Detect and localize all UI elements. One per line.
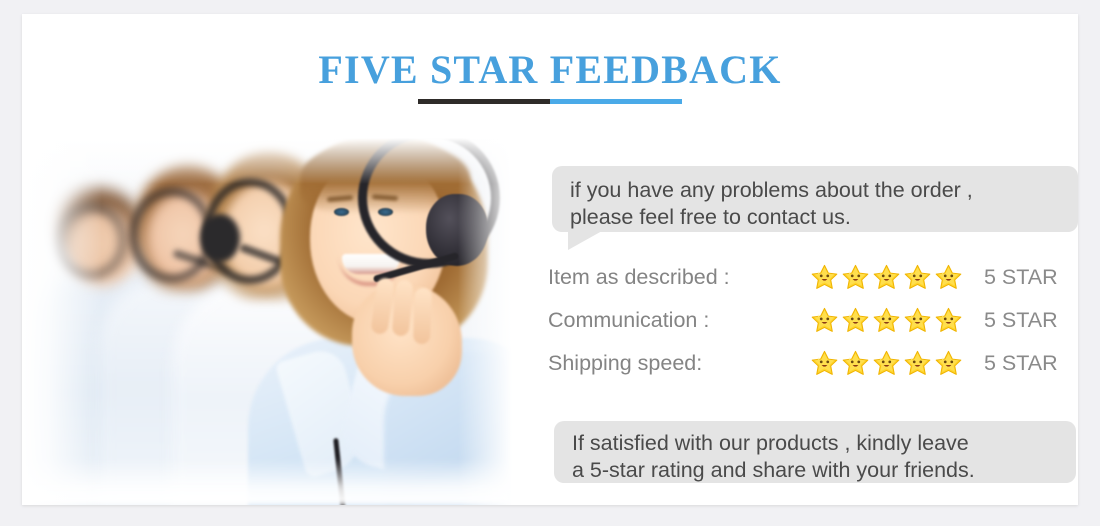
contact-message-line-2: please feel free to contact us. bbox=[570, 204, 1062, 231]
contact-message-line-1: if you have any problems about the order… bbox=[570, 177, 1062, 204]
star-icon bbox=[903, 306, 932, 335]
ratings-list: Item as described : 5 STAR Communication… bbox=[548, 256, 1078, 385]
content-card: FIVE STAR FEEDBACK bbox=[22, 14, 1078, 505]
star-icon bbox=[934, 306, 963, 335]
star-icon bbox=[903, 263, 932, 292]
title-divider bbox=[418, 99, 682, 104]
star-icon bbox=[810, 306, 839, 335]
divider-right-segment bbox=[550, 99, 682, 104]
star-icon bbox=[872, 263, 901, 292]
satisfaction-message-line-2: a 5-star rating and share with your frie… bbox=[572, 457, 1060, 484]
star-icon bbox=[934, 349, 963, 378]
star-icon bbox=[841, 349, 870, 378]
rating-label: Item as described : bbox=[548, 265, 810, 290]
satisfaction-message-bubble: If satisfied with our products , kindly … bbox=[554, 421, 1076, 483]
divider-left-segment bbox=[418, 99, 550, 104]
foreground-person-eye-left bbox=[334, 208, 349, 216]
star-icon bbox=[810, 263, 839, 292]
star-icon bbox=[903, 349, 932, 378]
star-icon bbox=[872, 306, 901, 335]
rating-label: Communication : bbox=[548, 308, 810, 333]
feedback-content: if you have any problems about the order… bbox=[530, 138, 1078, 505]
speech-bubble-tail-icon bbox=[568, 231, 602, 250]
rating-value: 5 STAR bbox=[972, 265, 1058, 290]
star-icon bbox=[934, 263, 963, 292]
rating-value: 5 STAR bbox=[972, 351, 1058, 376]
rating-row-communication: Communication : 5 STAR bbox=[548, 299, 1078, 342]
photo-fade-right bbox=[458, 138, 512, 505]
background-person-3-earcup bbox=[200, 214, 240, 262]
rating-stars bbox=[810, 349, 972, 378]
foreground-person-finger-3 bbox=[413, 288, 432, 345]
satisfaction-message-line-1: If satisfied with our products , kindly … bbox=[572, 430, 1060, 457]
rating-label: Shipping speed: bbox=[548, 351, 810, 376]
rating-stars bbox=[810, 306, 972, 335]
rating-value: 5 STAR bbox=[972, 308, 1058, 333]
feedback-banner: FIVE STAR FEEDBACK bbox=[0, 0, 1100, 526]
star-icon bbox=[872, 349, 901, 378]
rating-row-item-as-described: Item as described : 5 STAR bbox=[548, 256, 1078, 299]
call-center-photo bbox=[22, 138, 512, 505]
star-icon bbox=[841, 306, 870, 335]
contact-message-bubble: if you have any problems about the order… bbox=[552, 166, 1078, 232]
star-icon bbox=[841, 263, 870, 292]
star-icon bbox=[810, 349, 839, 378]
page-title: FIVE STAR FEEDBACK bbox=[22, 47, 1078, 93]
header: FIVE STAR FEEDBACK bbox=[22, 14, 1078, 124]
rating-stars bbox=[810, 263, 972, 292]
photo-fade-left bbox=[22, 138, 102, 505]
rating-row-shipping-speed: Shipping speed: 5 STAR bbox=[548, 342, 1078, 385]
